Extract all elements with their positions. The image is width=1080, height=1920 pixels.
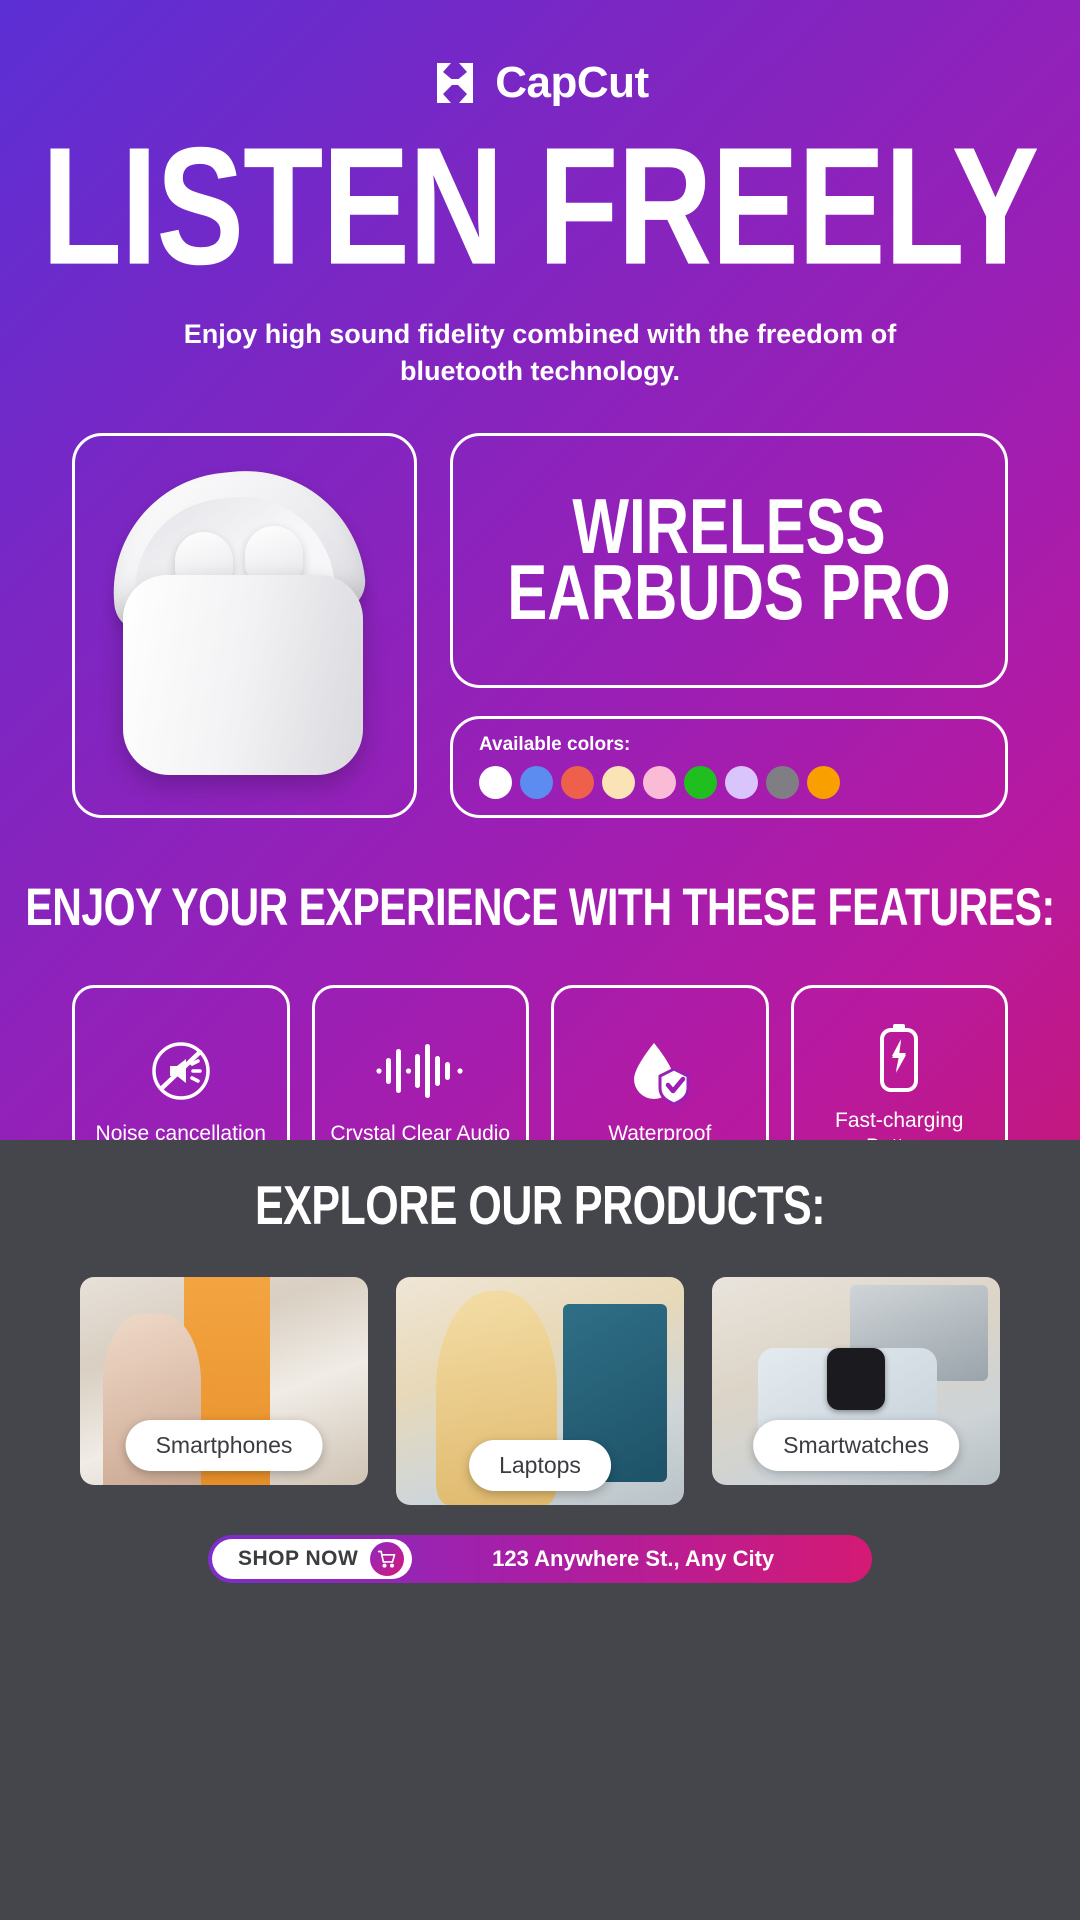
color-swatch-white[interactable] bbox=[479, 766, 512, 799]
feature-label: Fast-charging Battery bbox=[800, 1108, 1000, 1140]
poster-page: CapCut LISTEN FREELY Enjoy high sound fi… bbox=[0, 0, 1080, 1920]
product-info-column: WIRELESS EARBUDS PRO Available colors: bbox=[450, 433, 1008, 818]
features-heading: ENJOY YOUR EXPERIENCE WITH THESE FEATURE… bbox=[0, 877, 1080, 937]
color-swatch-blue[interactable] bbox=[520, 766, 553, 799]
feature-label: Waterproof bbox=[608, 1121, 711, 1140]
explore-section: EXPLORE OUR PRODUCTS: Smartphones Laptop… bbox=[0, 1140, 1080, 1920]
noise-cancellation-icon bbox=[146, 1035, 216, 1107]
feature-card-crystal-clear-audio[interactable]: Crystal Clear Audio bbox=[312, 985, 530, 1140]
hero-section: CapCut LISTEN FREELY Enjoy high sound fi… bbox=[0, 0, 1080, 1140]
audio-waveform-icon bbox=[374, 1035, 466, 1107]
product-image bbox=[72, 433, 417, 818]
available-colors-card: Available colors: bbox=[450, 716, 1008, 818]
capcut-logo-icon bbox=[431, 60, 479, 106]
shop-now-label: SHOP NOW bbox=[238, 1547, 358, 1571]
shop-now-bar[interactable]: SHOP NOW 123 Anywhere St., Any City bbox=[208, 1535, 872, 1583]
product-card-label: Laptops bbox=[469, 1440, 611, 1491]
color-swatch-coral-red[interactable] bbox=[561, 766, 594, 799]
product-card-label: Smartwatches bbox=[753, 1420, 959, 1471]
product-card-smartwatches[interactable]: Smartwatches bbox=[712, 1277, 1000, 1485]
color-swatch-green[interactable] bbox=[684, 766, 717, 799]
shop-now-button[interactable]: SHOP NOW bbox=[212, 1539, 412, 1579]
product-card-label: Smartphones bbox=[126, 1420, 323, 1471]
battery-charging-icon bbox=[872, 1022, 926, 1094]
color-swatch-list bbox=[479, 766, 979, 799]
color-swatch-gray[interactable] bbox=[766, 766, 799, 799]
feature-label: Noise cancellation bbox=[96, 1121, 266, 1140]
features-row: Noise cancellation bbox=[0, 931, 1080, 1140]
feature-label: Crystal Clear Audio bbox=[330, 1121, 510, 1140]
color-swatch-lavender[interactable] bbox=[725, 766, 758, 799]
product-card-smartphones[interactable]: Smartphones bbox=[80, 1277, 368, 1485]
product-card-laptops[interactable]: Laptops bbox=[396, 1277, 684, 1505]
product-name-line-2: EARBUDS PRO bbox=[507, 554, 950, 632]
product-cards-row: Smartphones Laptops Smartwatches bbox=[0, 1231, 1080, 1505]
explore-heading: EXPLORE OUR PRODUCTS: bbox=[0, 1175, 1080, 1238]
watch-face bbox=[827, 1348, 885, 1410]
brand-logo: CapCut bbox=[0, 0, 1080, 106]
feature-card-fast-charging-battery[interactable]: Fast-charging Battery bbox=[791, 985, 1009, 1140]
product-area: WIRELESS EARBUDS PRO Available colors: bbox=[0, 389, 1080, 818]
hero-subtitle: Enjoy high sound fidelity combined with … bbox=[130, 316, 950, 389]
store-address: 123 Anywhere St., Any City bbox=[412, 1546, 868, 1572]
shopping-cart-icon bbox=[370, 1542, 404, 1576]
cta-row: SHOP NOW 123 Anywhere St., Any City bbox=[0, 1505, 1080, 1583]
waterproof-droplet-icon bbox=[624, 1035, 696, 1107]
page-title: LISTEN FREELY bbox=[0, 130, 1080, 284]
feature-card-waterproof[interactable]: Waterproof bbox=[551, 985, 769, 1140]
brand-name: CapCut bbox=[495, 61, 648, 105]
color-swatch-pink[interactable] bbox=[643, 766, 676, 799]
color-swatch-cream[interactable] bbox=[602, 766, 635, 799]
product-name-card: WIRELESS EARBUDS PRO bbox=[450, 433, 1008, 688]
feature-card-noise-cancellation[interactable]: Noise cancellation bbox=[72, 985, 290, 1140]
available-colors-label: Available colors: bbox=[479, 734, 979, 756]
earbuds-case-body bbox=[123, 575, 363, 775]
color-swatch-orange[interactable] bbox=[807, 766, 840, 799]
